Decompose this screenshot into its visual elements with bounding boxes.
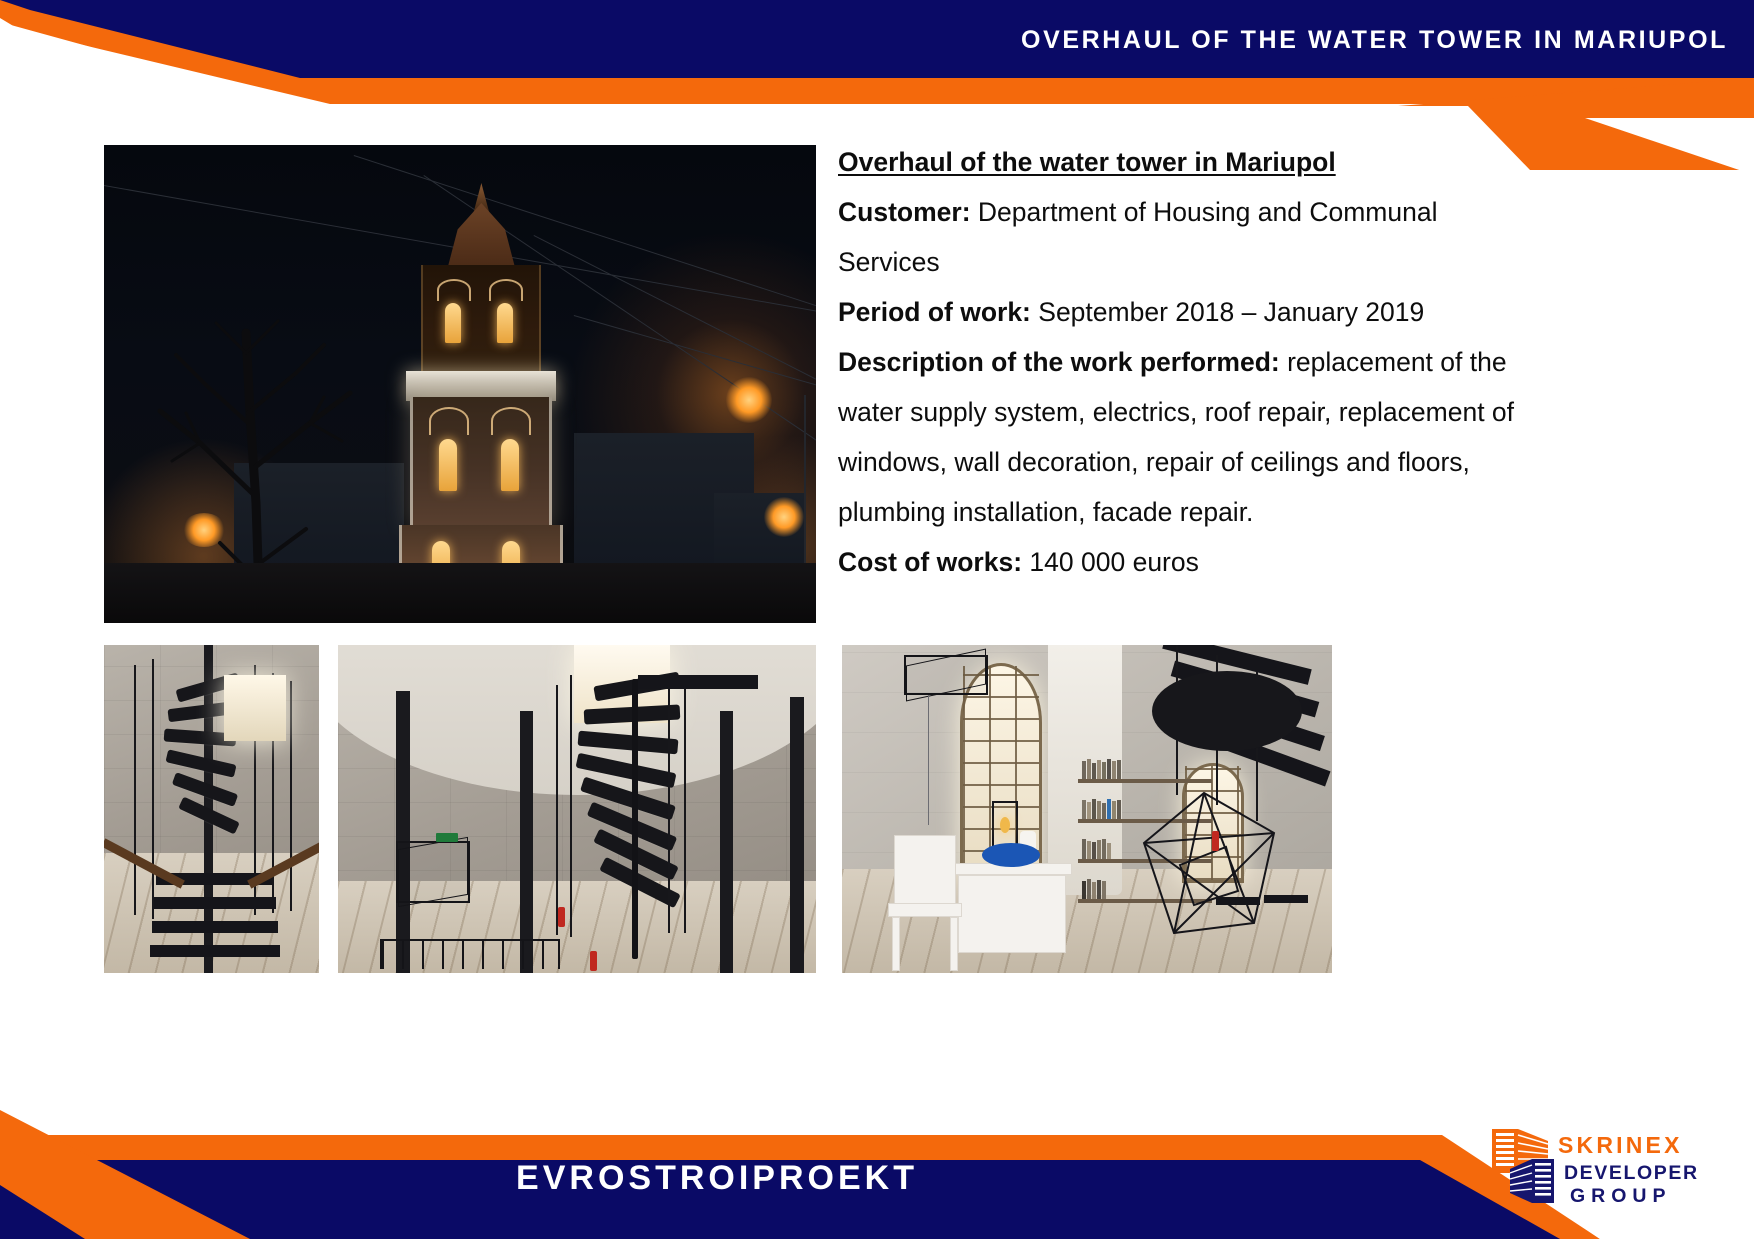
page-title: OVERHAUL OF THE WATER TOWER IN MARIUPOL (1021, 26, 1728, 55)
stair-underside (1152, 671, 1302, 751)
floor-railing (380, 939, 560, 969)
tower-window (445, 303, 461, 343)
street-ground (104, 563, 816, 623)
lamp-cord (928, 695, 929, 825)
white-chair-seat (888, 903, 962, 917)
field-customer: Customer: Department of Housing and Comm… (838, 187, 1528, 287)
white-chair-leg (892, 917, 900, 971)
fire-extinguisher (1212, 831, 1219, 851)
wall-pilaster (520, 711, 533, 973)
thumbnail-photo-hall-spiral-staircase (338, 645, 816, 973)
street-lamp-glow (764, 497, 804, 537)
upper-landing (638, 675, 758, 689)
tower-window (497, 303, 513, 343)
wall-pilaster (720, 711, 733, 973)
tower-upper-stage (421, 265, 541, 377)
tower-arch (489, 279, 523, 301)
logo-brand-text: SKRINEX (1558, 1132, 1683, 1158)
logo-line3-text: GROUP (1570, 1185, 1672, 1207)
exit-sign (436, 833, 458, 842)
field-period-label: Period of work: (838, 297, 1031, 327)
slide-body: Overhaul of the water tower in Mariupol … (0, 0, 1754, 1239)
fire-extinguisher (558, 907, 565, 927)
logo-line2-text: DEVELOPER (1564, 1162, 1699, 1184)
fire-extinguisher (590, 951, 597, 971)
field-customer-label: Customer: (838, 197, 971, 227)
tower-arch (491, 407, 531, 435)
tower-arch (429, 407, 469, 435)
field-period-value: September 2018 – January 2019 (1038, 297, 1424, 327)
lamp-post (804, 395, 806, 585)
field-period: Period of work: September 2018 – January… (838, 287, 1528, 337)
wall-pilaster (790, 697, 804, 973)
project-title: Overhaul of the water tower in Mariupol (838, 137, 1528, 187)
photo-gallery (0, 645, 1754, 975)
wall-pilaster (396, 691, 410, 973)
black-stool (1216, 897, 1260, 905)
tower-middle-stage (410, 397, 552, 529)
wire-sculpture (1134, 773, 1284, 943)
lamp-bulb (1000, 817, 1010, 833)
tower-roof (444, 203, 518, 269)
wire-frame-lamp (396, 841, 470, 903)
field-description-label: Description of the work performed: (838, 347, 1280, 377)
tower-window (501, 439, 519, 491)
lower-stair-flight (154, 897, 276, 909)
white-chair-leg (950, 917, 958, 971)
lower-stair-flight (152, 921, 278, 933)
water-tower (381, 165, 581, 623)
project-details-text: Overhaul of the water tower in Mariupol … (838, 137, 1528, 587)
street-lamp-glow (726, 377, 772, 423)
blue-object-on-table (982, 843, 1040, 867)
tower-arch (437, 279, 471, 301)
field-cost-label: Cost of works: (838, 547, 1022, 577)
white-table-body (958, 875, 1066, 953)
skrinex-developer-group-logo: SKRINEX DEVELOPER GROUP (1490, 1123, 1728, 1209)
field-cost: Cost of works: 140 000 euros (838, 537, 1528, 587)
field-description: Description of the work performed: repla… (838, 337, 1528, 537)
lower-stair-flight (150, 945, 280, 957)
pendant-wire-lamp (904, 655, 988, 695)
thumbnail-photo-reading-room (842, 645, 1332, 973)
stairwell-light-opening (224, 675, 286, 741)
hero-photo-water-tower-night (104, 145, 816, 623)
white-chair-back (894, 835, 956, 907)
black-stool (1264, 895, 1308, 903)
tower-window (439, 439, 457, 491)
field-cost-value: 140 000 euros (1029, 547, 1198, 577)
thumbnail-photo-spiral-stair-top (104, 645, 319, 973)
